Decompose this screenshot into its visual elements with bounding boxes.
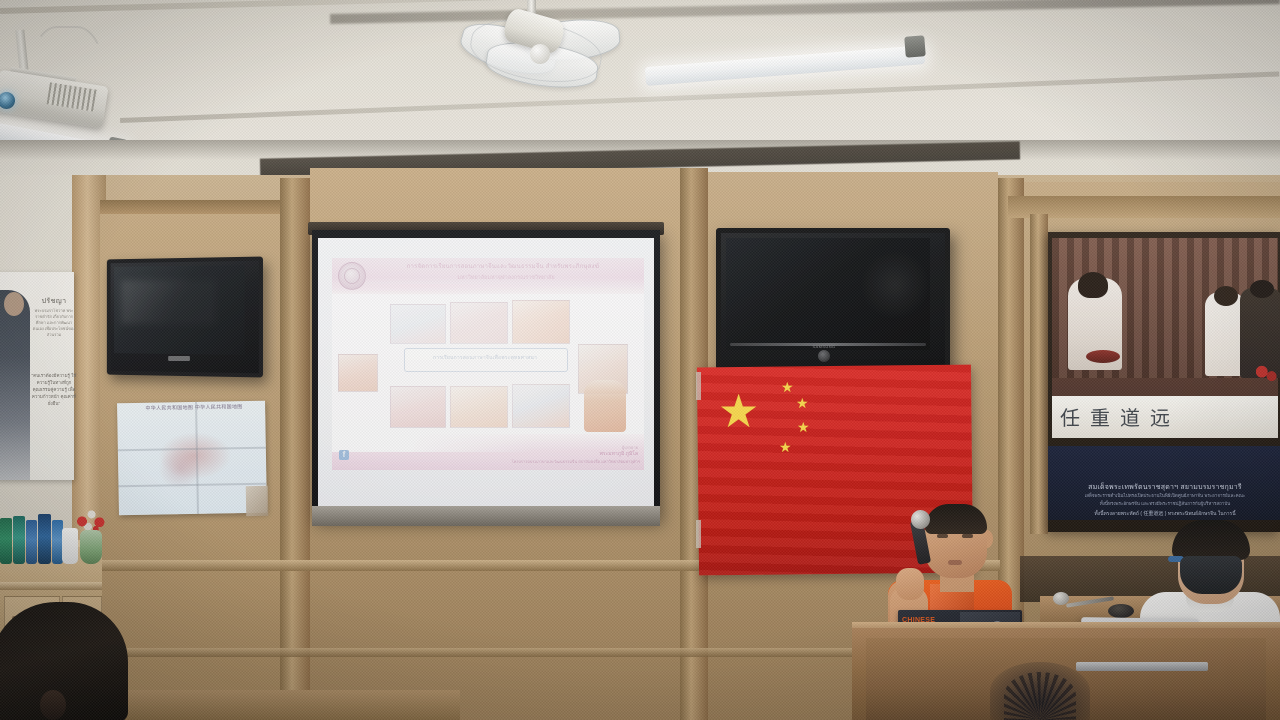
poster-caption-line2: เสด็จพระราชดำเนินไปทรงเปิดประธานในพิธีเป… — [1052, 492, 1278, 499]
slide-thumbnail — [390, 386, 446, 428]
poster-caption-line4: ทั้งนี้ทรงลายพระหัตถ์ ( 任重道远 ) ทรงพระนิพ… — [1052, 510, 1278, 518]
screen-bottom-bar — [312, 506, 660, 526]
foreground-audience-ear — [40, 690, 66, 720]
photo-person-hair-icon — [1214, 286, 1238, 306]
flag-tie — [696, 372, 701, 400]
tv-screen-glare — [121, 280, 216, 325]
slide-title-line1: การจัดการเรียนการสอนภาษาจีนและวัฒนธรรมจี… — [372, 263, 634, 271]
slide-thumbnail — [338, 354, 378, 392]
fan-hub — [530, 44, 550, 64]
university-seal-inner-icon — [344, 268, 360, 284]
microphone-base — [1108, 604, 1134, 618]
map-landmass-icon — [139, 417, 240, 503]
map-curled-corner — [246, 486, 269, 516]
portrait-face-icon — [4, 292, 24, 316]
slide-thumbnail — [512, 384, 570, 428]
bottle — [0, 518, 12, 564]
bottle — [38, 514, 51, 564]
slide-thumbnail — [512, 300, 570, 344]
calligraphy-characters: 任重道远 — [1060, 402, 1270, 434]
slide-presenter-name: พระมหาภูมิ ภูมิโล — [532, 450, 638, 458]
portrait-figure-icon — [0, 290, 30, 480]
poster-caption-line3: ทั้งนี้ทรงพระอักษรจีน และทรงมีพระราชปฏิส… — [1052, 500, 1278, 507]
seal-rays-icon — [1004, 672, 1076, 720]
photo-lacquer-tray-icon — [1086, 350, 1120, 363]
gooseneck-microphone-head-icon — [1053, 592, 1069, 605]
poster-frame-top — [1008, 196, 1280, 218]
flag-star-large-icon: ★ — [718, 388, 759, 434]
slide-thumbnail — [450, 302, 508, 344]
slide-header-wave — [332, 284, 644, 300]
speaker-hair — [925, 504, 987, 534]
flag-tie — [696, 520, 701, 548]
wall-panel-top-trim — [100, 200, 280, 214]
tv-ir-sensor-icon — [818, 350, 830, 362]
face-mask-icon — [1180, 556, 1242, 594]
cabinet-shelf — [0, 582, 102, 590]
attendee-hair — [1172, 520, 1250, 560]
wall-panel-divider — [280, 178, 310, 720]
bottle — [13, 516, 25, 564]
slide-callout-text: การเรียนการสอนภาษาจีนเพื่อพระพุทธศาสนา — [406, 354, 564, 362]
speaker-mouth — [948, 560, 962, 565]
bottle — [26, 520, 37, 564]
flag-star-small-icon: ★ — [779, 440, 792, 454]
portrait-poster-heading: ปรัชญา — [33, 296, 75, 307]
tv-screen-glare — [860, 250, 930, 320]
flag-star-small-icon: ★ — [781, 380, 794, 394]
photo-person-hair-icon — [1078, 272, 1108, 298]
slide-monk-photo-icon — [584, 380, 626, 432]
portrait-poster-body: พระบรมราโชวาท พระราชดำรัส เกี่ยวกับการศึ… — [32, 308, 76, 338]
photo-flower-bouquet-icon — [1252, 360, 1280, 386]
slide-thumbnail — [390, 304, 446, 344]
portrait-poster-quote: "คนเราต้องมีความรู้ ใช้ความรู้ในทางที่ถู… — [30, 372, 78, 407]
speaker-eye — [962, 534, 973, 538]
facebook-icon: f — [339, 450, 349, 460]
laptop-base[interactable] — [1076, 662, 1208, 671]
speaker-hand — [896, 568, 924, 600]
slide-title-line2: มหาวิทยาลัยมหาจุฬาลงกรณราชวิทยาลัย — [386, 274, 626, 282]
slide-footer-wave — [332, 434, 532, 452]
speaker-eye — [937, 534, 948, 538]
tube-end-cap — [904, 35, 926, 58]
flag-star-small-icon: ★ — [796, 396, 809, 410]
slide-footer-note: โครงการอบรมภาษาและวัฒนธรรมจีน สถาบันขงจื… — [452, 458, 640, 465]
presentation-slide: การจัดการเรียนการสอนภาษาจีนและวัฒนธรรมจี… — [332, 258, 644, 470]
photo-person-hair-icon — [1250, 280, 1274, 298]
tv-brand-logo — [168, 356, 190, 361]
poster-frame-side — [1030, 214, 1048, 534]
slide-thumbnail — [450, 386, 508, 428]
flag-star-small-icon: ★ — [797, 420, 810, 434]
lecture-hall-photo: ปรัชญา พระบรมราโชวาท พระราชดำรัส เกี่ยวก… — [0, 0, 1280, 720]
flower-vase — [80, 530, 102, 564]
